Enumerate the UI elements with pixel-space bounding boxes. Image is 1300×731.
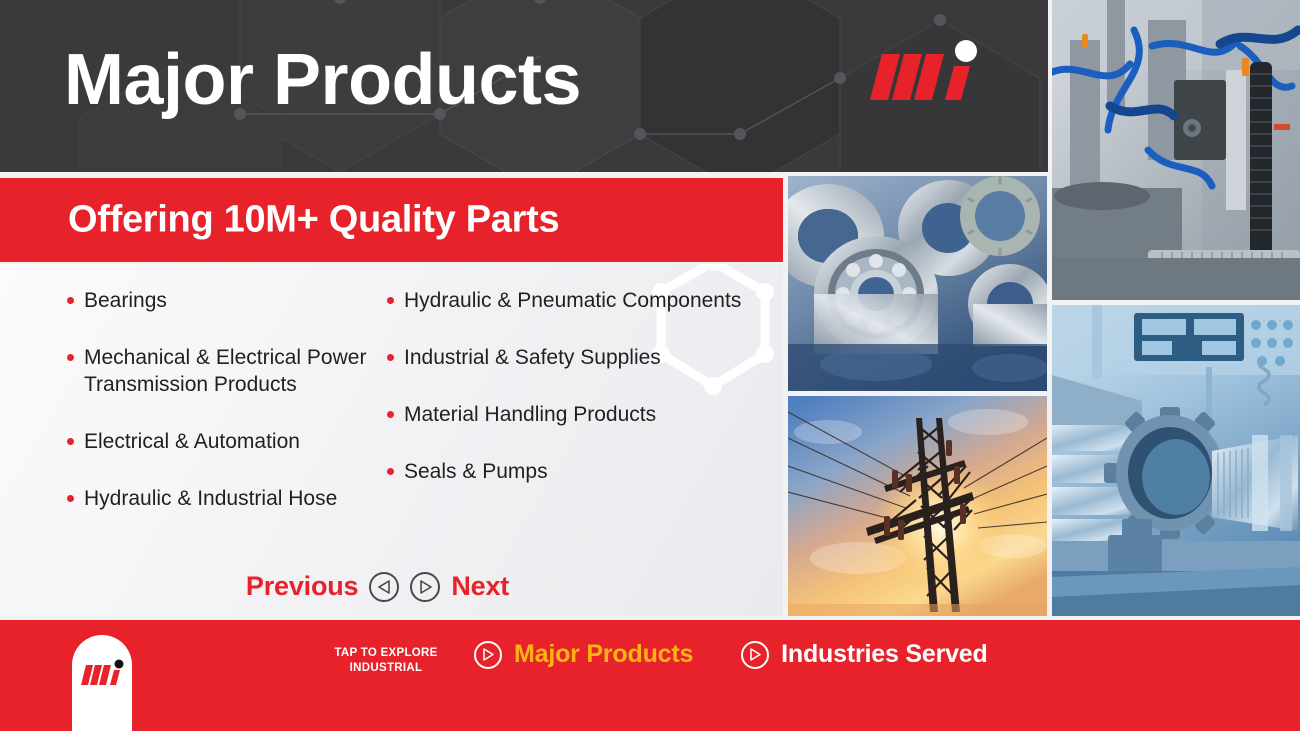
machine-illustration-icon: [1052, 0, 1300, 300]
list-item[interactable]: Bearings: [60, 288, 400, 315]
previous-label[interactable]: Previous: [246, 571, 358, 602]
list-item[interactable]: Seals & Pumps: [380, 459, 760, 486]
footer-navigation: Major Products Industries Served: [474, 640, 988, 669]
footer-tab-industries-served[interactable]: Industries Served: [741, 640, 987, 669]
previous-button[interactable]: [369, 572, 399, 602]
offering-banner: Offering 10M+ Quality Parts: [0, 178, 783, 262]
footer-logo-pill[interactable]: [72, 635, 132, 731]
header-bar: Major Products: [0, 0, 1048, 172]
triangle-left-icon: [378, 580, 391, 594]
tap-to-explore-label: TAP TO EXPLORE INDUSTRIAL: [331, 646, 441, 676]
photo-electrical-transmission-tower: [788, 396, 1047, 616]
tap-label-line1: TAP TO EXPLORE: [334, 647, 437, 659]
footer-tab-major-products[interactable]: Major Products: [474, 640, 693, 669]
bearings-illustration-icon: [788, 176, 1047, 391]
next-label[interactable]: Next: [451, 571, 509, 602]
triangle-right-icon: [749, 648, 761, 661]
footer-bar: [0, 620, 1300, 731]
mi-logo-icon: [80, 659, 126, 687]
next-button[interactable]: [410, 572, 440, 602]
list-item[interactable]: Hydraulic & Industrial Hose: [60, 486, 400, 513]
mi-logo-icon: [870, 40, 980, 106]
list-item[interactable]: Industrial & Safety Supplies: [380, 345, 760, 372]
tap-label-line2: INDUSTRIAL: [350, 662, 423, 674]
photo-cnc-gear-machining: [1052, 305, 1300, 616]
page-title: Major Products: [64, 44, 581, 116]
photo-ball-bearings: [788, 176, 1047, 391]
list-item[interactable]: Electrical & Automation: [60, 429, 400, 456]
slide-root: Major Products Offering 10M+ Quality Par…: [0, 0, 1300, 731]
list-item[interactable]: Hydraulic & Pneumatic Components: [380, 288, 760, 315]
list-item[interactable]: Mechanical & Electrical Power Transmissi…: [60, 345, 400, 399]
photo-industrial-automation-machine: [1052, 0, 1300, 300]
play-circle-icon: [741, 641, 769, 669]
product-list-right: Hydraulic & Pneumatic Components Industr…: [380, 288, 760, 516]
product-list-left: Bearings Mechanical & Electrical Power T…: [60, 288, 400, 542]
triangle-right-icon: [482, 648, 494, 661]
slide-navigation: Previous Next: [0, 571, 783, 602]
lathe-illustration-icon: [1052, 305, 1300, 616]
products-panel: Bearings Mechanical & Electrical Power T…: [0, 264, 783, 616]
banner-text: Offering 10M+ Quality Parts: [68, 199, 559, 242]
triangle-right-icon: [419, 580, 432, 594]
footer-tab-label: Major Products: [514, 640, 693, 669]
power-pylon-illustration-icon: [788, 396, 1047, 616]
play-circle-icon: [474, 641, 502, 669]
list-item[interactable]: Material Handling Products: [380, 402, 760, 429]
footer-tab-label: Industries Served: [781, 640, 987, 669]
